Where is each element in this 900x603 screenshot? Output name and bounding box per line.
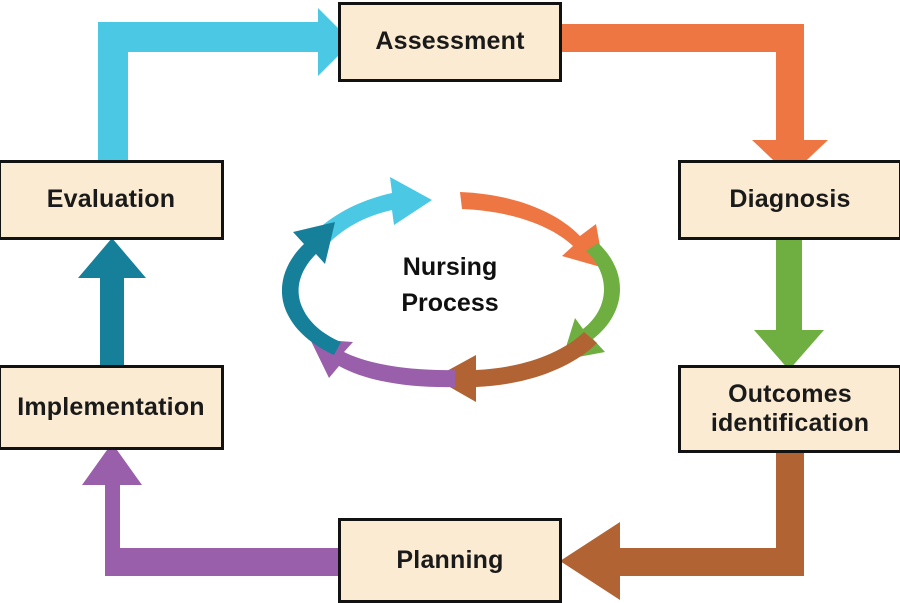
cycle-segment-teal <box>282 222 341 355</box>
connector-implementation-to-evaluation <box>78 238 146 367</box>
nursing-process-diagram: Assessment Diagnosis Outcomes identifica… <box>0 0 900 603</box>
connector-evaluation-to-assessment-shape <box>98 8 352 162</box>
connector-diagnosis-to-outcomes <box>754 238 824 370</box>
cycle-segment-brown <box>434 332 597 402</box>
center-title-line2: Process <box>355 286 545 322</box>
cycle-segment-cyan <box>316 177 432 243</box>
node-box-evaluation[interactable]: Evaluation <box>0 160 224 240</box>
node-label-implementation: Implementation <box>11 393 211 423</box>
node-label-planning: Planning <box>390 546 509 576</box>
connector-assessment-to-diagnosis <box>560 24 828 176</box>
node-label-evaluation: Evaluation <box>41 185 181 215</box>
connector-planning-to-implementation-shape <box>82 443 340 576</box>
connector-diagnosis-to-outcomes-shape <box>754 238 824 370</box>
connector-assessment-to-diagnosis-shape <box>560 24 828 176</box>
connector-outcomes-to-planning-shape <box>560 451 804 600</box>
connector-evaluation-to-assessment <box>98 8 352 162</box>
center-title-line1: Nursing <box>355 250 545 286</box>
node-box-outcomes[interactable]: Outcomes identification <box>678 365 900 453</box>
node-box-planning[interactable]: Planning <box>338 518 562 603</box>
connector-implementation-to-evaluation-shape <box>78 238 146 367</box>
node-label-outcomes: Outcomes identification <box>705 380 875 439</box>
node-label-outcomes-line2: identification <box>711 409 869 437</box>
node-box-assessment[interactable]: Assessment <box>338 2 562 82</box>
node-label-outcomes-line1: Outcomes <box>728 380 852 408</box>
node-label-assessment: Assessment <box>369 27 530 57</box>
center-title: Nursing Process <box>355 250 545 321</box>
node-box-diagnosis[interactable]: Diagnosis <box>678 160 900 240</box>
node-label-diagnosis: Diagnosis <box>723 185 856 215</box>
connector-planning-to-implementation <box>82 443 340 576</box>
node-box-implementation[interactable]: Implementation <box>0 365 224 450</box>
connector-outcomes-to-planning <box>560 451 804 600</box>
